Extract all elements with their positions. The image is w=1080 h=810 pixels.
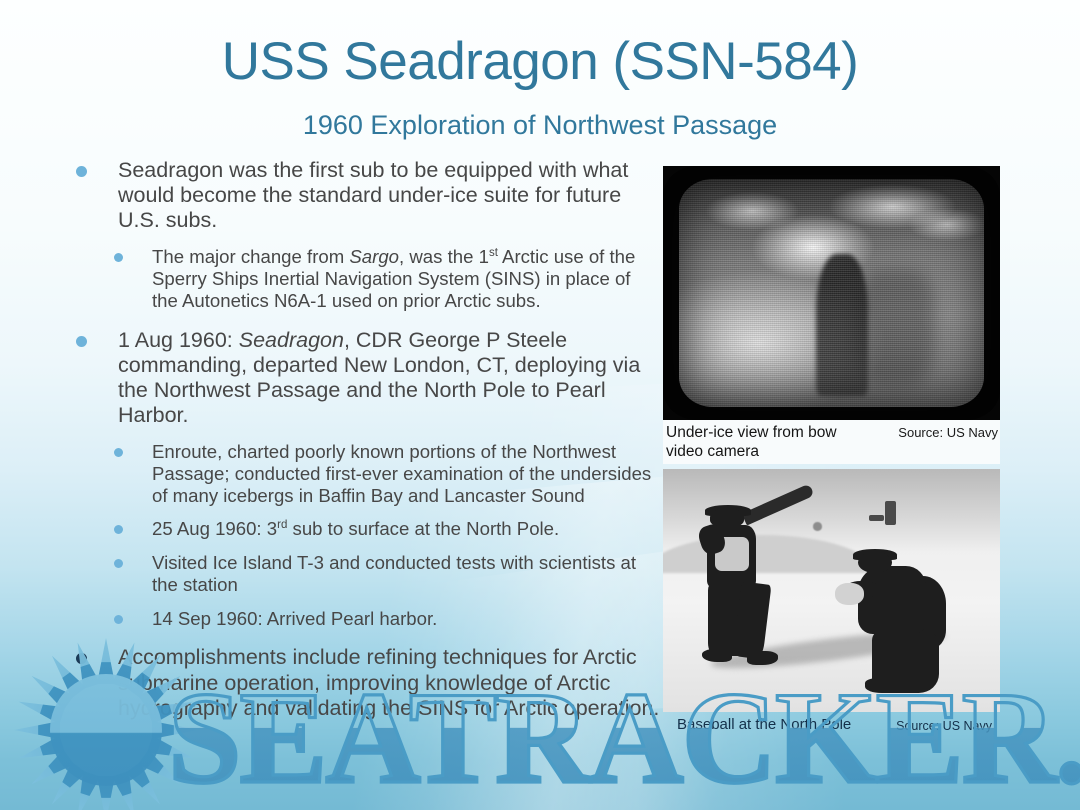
bullet-item-2-sub-2: 25 Aug 1960: 3rd sub to surface at the N… — [60, 518, 660, 540]
spacer — [60, 543, 660, 552]
bullet-text-post: sub to surface at the North Pole. — [287, 518, 559, 539]
bullet-item-2: 1 Aug 1960: Seadragon, CDR George P Stee… — [60, 328, 660, 429]
top-photo-source: Source: US Navy — [898, 425, 998, 440]
bullet-text: Seadragon was the first sub to be equipp… — [118, 158, 628, 232]
catcher-torso — [858, 566, 925, 634]
bullet-text-pre: The major change from — [152, 246, 349, 267]
slide-subtitle: 1960 Exploration of Northwest Passage — [0, 111, 1080, 141]
ice-marker-bar — [869, 515, 884, 521]
ordinal-suffix: rd — [277, 519, 287, 531]
batter-boot-right — [747, 651, 777, 664]
presentation-slide: USS Seadragon (SSN-584) 1960 Exploration… — [0, 0, 1080, 810]
ice-marker-post — [885, 501, 895, 525]
top-photo-caption-bar: Under-ice view from bow video camera Sou… — [663, 420, 1000, 464]
ordinal-suffix: st — [489, 247, 498, 259]
spacer — [60, 432, 660, 441]
bullet-item-1-sub-1: The major change from Sargo, was the 1st… — [60, 246, 660, 311]
bullet-item-2-sub-3: Visited Ice Island T-3 and conducted tes… — [60, 552, 660, 596]
spacer — [60, 315, 660, 328]
batter-boot-left — [702, 649, 732, 662]
bullet-text: Accomplishments include refining techniq… — [118, 645, 659, 719]
bullet-item-2-sub-4: 14 Sep 1960: Arrived Pearl harbor. — [60, 608, 660, 630]
crt-vignette — [663, 166, 1000, 420]
bullet-dot — [114, 448, 123, 457]
bullet-dot — [114, 615, 123, 624]
slide-title: USS Seadragon (SSN-584) — [0, 34, 1080, 90]
spacer — [60, 599, 660, 608]
spacer — [60, 509, 660, 518]
bullet-text-italic: Sargo — [349, 246, 399, 267]
bullet-dot — [114, 559, 123, 568]
top-photo-caption: Under-ice view from bow video camera — [666, 423, 866, 461]
bullet-text: 14 Sep 1960: Arrived Pearl harbor. — [152, 608, 437, 629]
bullet-dot — [76, 336, 87, 347]
bullet-text-pre: 25 Aug 1960: 3 — [152, 518, 277, 539]
bottom-photo-caption: Baseball at the North Pole — [677, 716, 851, 733]
bottom-photo-caption-bar: Baseball at the North Pole Source: US Na… — [663, 712, 1000, 742]
bullet-item-3: Accomplishments include refining techniq… — [60, 645, 660, 720]
catcher-boot — [865, 678, 902, 693]
bottom-photo-source: Source: US Navy — [896, 719, 992, 733]
baseball — [813, 522, 822, 530]
bullet-text-mid: , was the 1 — [399, 246, 489, 267]
slide-body-content: Seadragon was the first sub to be equipp… — [60, 158, 660, 725]
spacer — [60, 632, 660, 645]
bullet-dot — [76, 653, 87, 664]
bullet-text-pre: 1 Aug 1960: — [118, 328, 239, 352]
catcher-glove — [835, 583, 864, 605]
bullet-text: Visited Ice Island T-3 and conducted tes… — [152, 552, 636, 595]
photo-column: Under-ice view from bow video camera Sou… — [663, 166, 1000, 742]
baseball-photo-image — [663, 469, 1000, 712]
bullet-text: Enroute, charted poorly known portions o… — [152, 441, 651, 506]
bullet-dot — [114, 525, 123, 534]
bullet-dot — [76, 166, 87, 177]
bullet-dot — [114, 253, 123, 262]
spacer — [60, 237, 660, 246]
bullet-item-2-sub-1: Enroute, charted poorly known portions o… — [60, 441, 660, 506]
bullet-text-italic: Seadragon — [239, 328, 344, 352]
bullet-item-1: Seadragon was the first sub to be equipp… — [60, 158, 660, 233]
under-ice-video-image — [663, 166, 1000, 420]
